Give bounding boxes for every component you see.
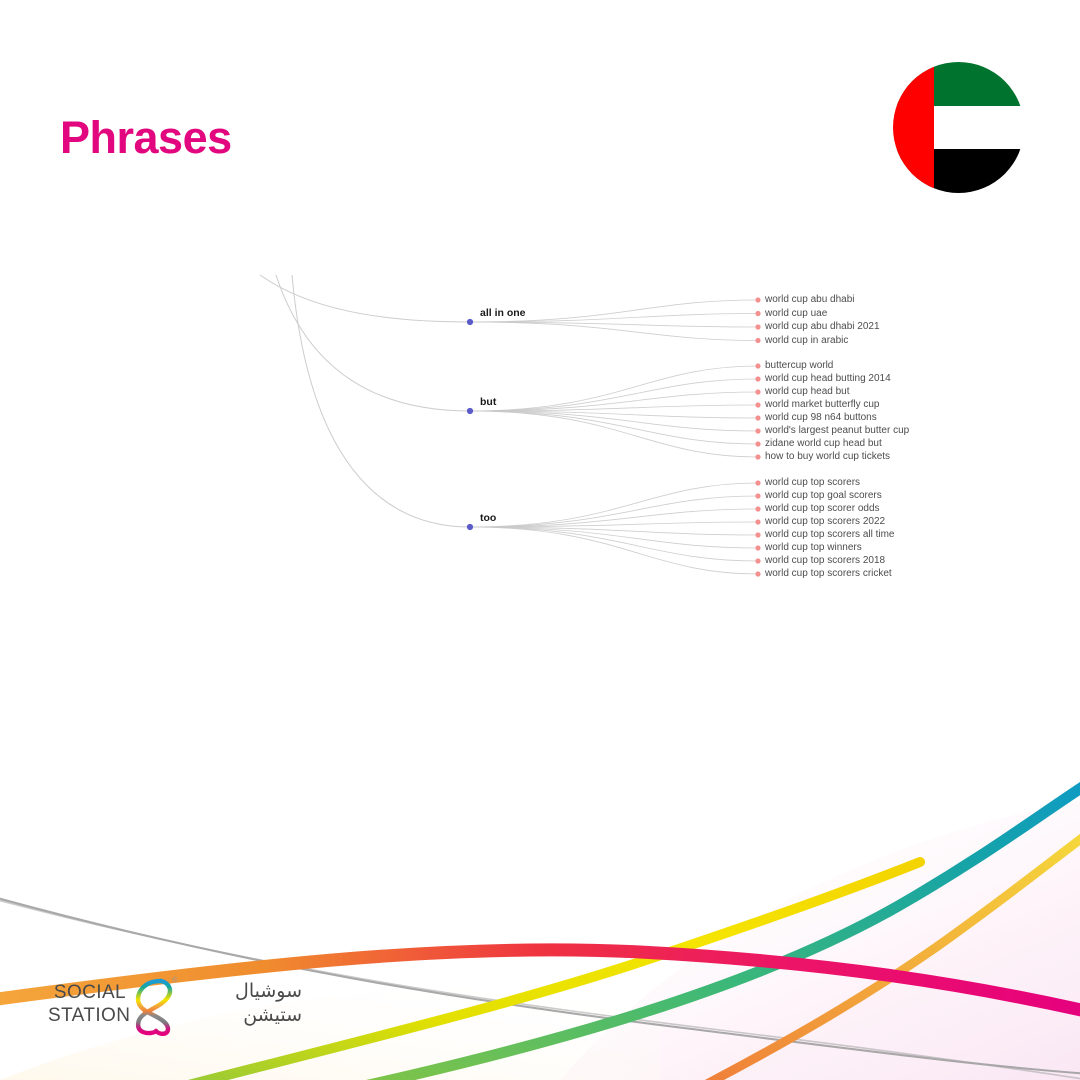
wave-orange	[705, 832, 1080, 1080]
tree-link	[470, 509, 758, 527]
tree-link	[260, 275, 470, 322]
tree-node-dot[interactable]	[467, 408, 473, 414]
social-station-logo: SOCIAL STATION ®	[48, 975, 258, 1043]
tree-leaf-dot[interactable]	[755, 519, 760, 524]
tree-leaf-dot[interactable]	[755, 454, 760, 459]
tree-leaf-dot[interactable]	[755, 480, 760, 485]
wave-haze-pink	[560, 800, 1080, 1080]
tree-leaf-dot[interactable]	[755, 297, 760, 302]
tree-leaf-label[interactable]: world cup top scorers	[765, 478, 860, 488]
tree-leaf-dot[interactable]	[755, 558, 760, 563]
tree-leaf-dot[interactable]	[755, 493, 760, 498]
tree-leaf-dot[interactable]	[755, 389, 760, 394]
tree-branch-label[interactable]: but	[480, 396, 496, 408]
tree-leaf-dot[interactable]	[755, 441, 760, 446]
tree-branch-label[interactable]: all in one	[480, 307, 526, 319]
tree-link	[470, 379, 758, 411]
tree-leaf-label[interactable]: world cup abu dhabi	[765, 295, 855, 305]
tree-leaf-label[interactable]: world market butterfly cup	[765, 400, 880, 410]
tree-leaf-label[interactable]: world cup head butting 2014	[765, 374, 891, 384]
tree-leaf-dot[interactable]	[755, 428, 760, 433]
infinity-eight-icon	[130, 975, 176, 1037]
logo-line-station: STATION	[48, 1004, 126, 1027]
logo-arabic-line-2: ستيشن	[182, 1003, 302, 1027]
tree-leaf-label[interactable]: how to buy world cup tickets	[765, 452, 890, 462]
tree-link	[470, 411, 758, 444]
tree-leaf-dot[interactable]	[755, 571, 760, 576]
tree-leaf-label[interactable]: world cup top winners	[765, 543, 862, 553]
tree-link	[470, 366, 758, 411]
registered-trademark-mark: ®	[172, 977, 177, 984]
tree-leaf-label[interactable]: world cup 98 n64 buttons	[765, 413, 877, 423]
tree-leaf-label[interactable]: zidane world cup head but	[765, 439, 882, 449]
tree-link	[292, 275, 470, 527]
logo-arabic-line-1: سوشيال	[182, 979, 302, 1003]
page-title: Phrases	[60, 112, 232, 164]
tree-leaf-label[interactable]: world cup top scorers cricket	[765, 569, 892, 579]
tree-branch-label[interactable]: too	[480, 512, 496, 524]
tree-leaf-dot[interactable]	[755, 311, 760, 316]
tree-node-dot[interactable]	[467, 319, 473, 325]
tree-leaf-label[interactable]: world cup top scorers 2018	[765, 556, 885, 566]
slide-canvas: Phrases all in oneworld cup abu dhabiwor…	[0, 0, 1080, 1080]
tree-leaf-label[interactable]: world cup top scorers 2022	[765, 517, 885, 527]
tree-leaf-dot[interactable]	[755, 415, 760, 420]
tree-leaf-label[interactable]: world cup top goal scorers	[765, 491, 882, 501]
tree-link	[276, 275, 470, 411]
tree-leaf-dot[interactable]	[755, 324, 760, 329]
tree-link	[470, 483, 758, 527]
tree-leaf-dot[interactable]	[755, 545, 760, 550]
tree-leaf-label[interactable]: world's largest peanut butter cup	[765, 426, 909, 436]
logo-line-social: SOCIAL	[48, 981, 126, 1004]
logo-english-text: SOCIAL STATION	[48, 981, 126, 1027]
tree-leaf-label[interactable]: world cup top scorer odds	[765, 504, 880, 514]
tree-leaf-label[interactable]: world cup uae	[765, 309, 827, 319]
flag-band-red	[893, 62, 934, 193]
tree-node-dot[interactable]	[467, 524, 473, 530]
keyword-tree-diagram: all in oneworld cup abu dhabiworld cup u…	[270, 265, 970, 595]
tree-leaf-dot[interactable]	[755, 532, 760, 537]
tree-leaf-dot[interactable]	[755, 506, 760, 511]
tree-link	[470, 322, 758, 341]
tree-leaf-label[interactable]: world cup in arabic	[765, 336, 848, 346]
wave-yellow	[150, 862, 920, 1080]
tree-link	[470, 527, 758, 561]
wave-teal	[300, 782, 1080, 1080]
tree-leaf-dot[interactable]	[755, 376, 760, 381]
tree-leaf-label[interactable]: buttercup world	[765, 361, 833, 371]
tree-leaf-label[interactable]: world cup head but	[765, 387, 850, 397]
logo-arabic-text: سوشيال ستيشن	[182, 979, 302, 1027]
tree-leaf-dot[interactable]	[755, 363, 760, 368]
uae-flag-icon	[893, 62, 1024, 193]
tree-leaf-label[interactable]: world cup top scorers all time	[765, 530, 895, 540]
tree-leaf-label[interactable]: world cup abu dhabi 2021	[765, 322, 880, 332]
tree-leaf-dot[interactable]	[755, 402, 760, 407]
tree-leaf-dot[interactable]	[755, 338, 760, 343]
